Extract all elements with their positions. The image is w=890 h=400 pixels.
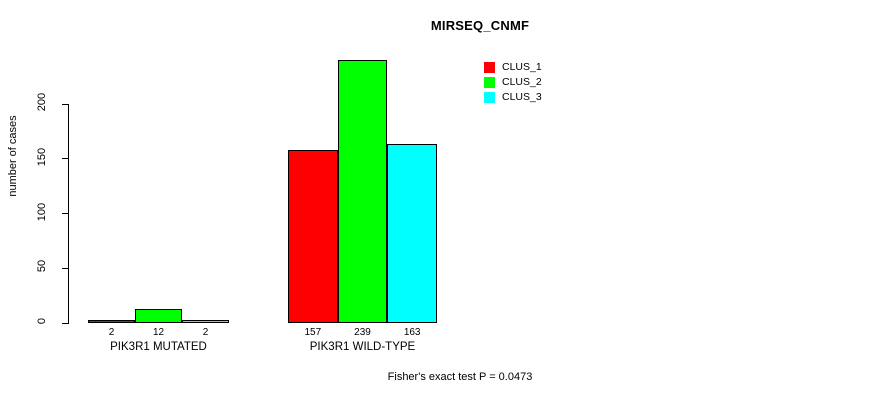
- group-label: PIK3R1 WILD-TYPE: [228, 341, 497, 353]
- legend-item: CLUS_3: [484, 90, 542, 105]
- legend: CLUS_1CLUS_2CLUS_3: [484, 60, 542, 105]
- legend-color-swatch: [484, 92, 495, 103]
- statistical-test-annotation: Fisher's exact test P = 0.0473: [0, 371, 890, 383]
- legend-color-swatch: [484, 62, 495, 73]
- group-labels: PIK3R1 MUTATEDPIK3R1 WILD-TYPE: [0, 0, 890, 400]
- legend-label: CLUS_2: [502, 77, 542, 88]
- legend-label: CLUS_1: [502, 62, 542, 73]
- bar-chart-figure: MIRSEQ_CNMF number of cases 050100150200…: [0, 0, 890, 400]
- legend-color-swatch: [484, 77, 495, 88]
- legend-item: CLUS_1: [484, 60, 542, 75]
- legend-label: CLUS_3: [502, 92, 542, 103]
- legend-item: CLUS_2: [484, 75, 542, 90]
